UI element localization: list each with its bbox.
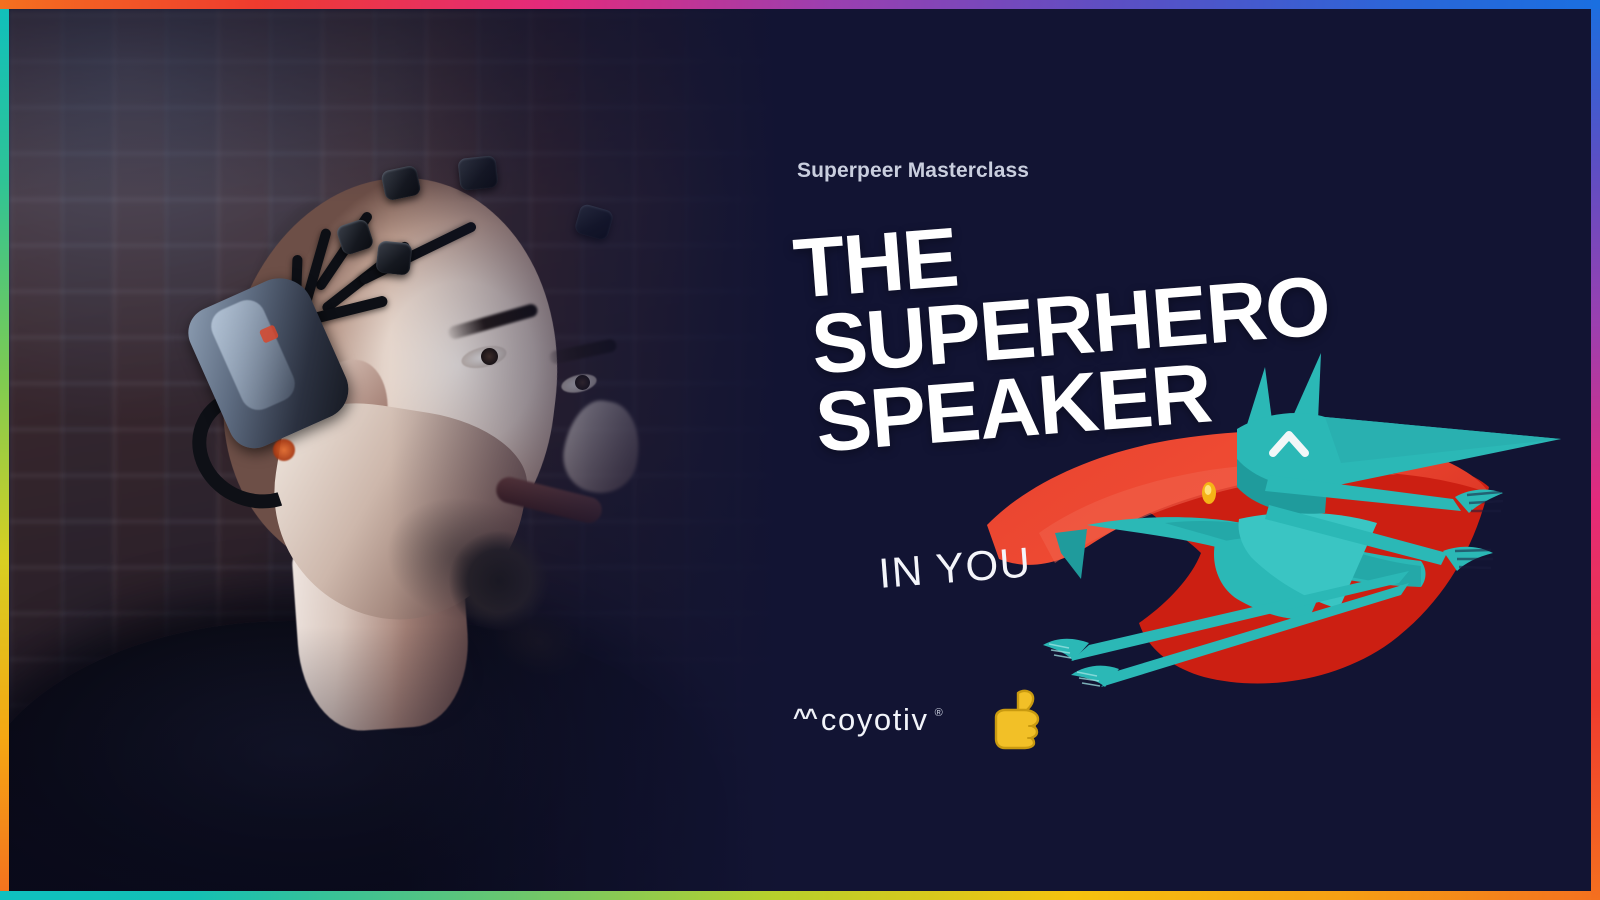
page-title: THE SUPERHERO SPEAKER xyxy=(791,183,1427,462)
brand-lockup: ^^ coyotiv ® xyxy=(793,687,1046,751)
photo-fade-overlay xyxy=(9,9,839,891)
double-chevron-icon: ^^ xyxy=(793,706,816,729)
promo-banner: Superpeer Masterclass THE SUPERHERO SPEA… xyxy=(0,0,1600,900)
thumbs-up-icon xyxy=(988,687,1046,751)
brand-wordmark: coyotiv xyxy=(821,704,929,735)
photo-panel xyxy=(9,9,839,891)
banner-stage: Superpeer Masterclass THE SUPERHERO SPEA… xyxy=(9,9,1591,891)
coyotiv-logo: ^^ coyotiv ® xyxy=(793,704,942,735)
coyote-eye-glint xyxy=(1205,485,1212,495)
eyebrow-label: Superpeer Masterclass xyxy=(797,159,1029,183)
registered-trademark-icon: ® xyxy=(935,707,943,719)
